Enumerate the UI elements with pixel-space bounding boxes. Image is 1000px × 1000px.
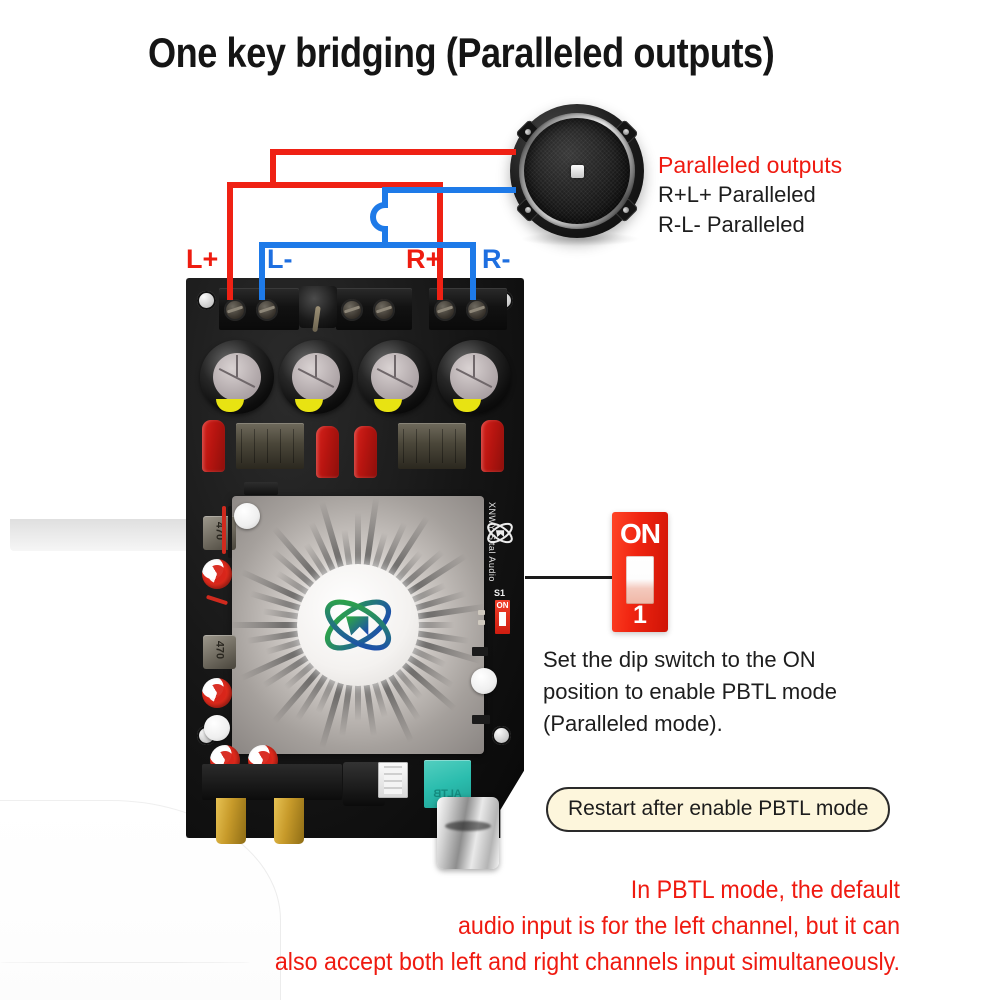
dip-instruction-line-2: position to enable PBTL mode (543, 676, 943, 708)
dip-instruction-line-3: (Paralleled mode). (543, 708, 943, 740)
dip-switch-callout[interactable]: ON 1 (612, 512, 668, 632)
dip-instruction-line-1: Set the dip switch to the ON (543, 644, 943, 676)
terminal-label-rplus: R+ (406, 246, 441, 273)
paralleled-line-2: R-L- Paralleled (658, 210, 988, 240)
terminal-label-rminus: R- (482, 246, 511, 273)
pbtl-mode-note: In PBTL mode, the default audio input is… (184, 872, 900, 980)
dip-callout-lever[interactable] (626, 556, 654, 604)
restart-badge: Restart after enable PBTL mode (546, 787, 890, 832)
pbtl-note-line-1: In PBTL mode, the default (184, 872, 900, 908)
pbtl-note-line-2: audio input is for the left channel, but… (184, 908, 900, 944)
terminal-label-lplus: L+ (186, 246, 218, 273)
dip-switch-leader-line (525, 576, 613, 579)
dip-callout-number: 1 (612, 601, 668, 630)
screenshot-root: One key bridging (Paralleled outputs) (0, 0, 1000, 1000)
terminal-label-lminus: L- (267, 246, 292, 273)
dip-callout-on-label: ON (612, 518, 668, 550)
paralleled-heading: Paralleled outputs (658, 150, 988, 180)
paralleled-outputs-callout: Paralleled outputs R+L+ Paralleled R-L- … (658, 150, 988, 240)
paralleled-line-1: R+L+ Paralleled (658, 180, 988, 210)
dip-switch-instruction: Set the dip switch to the ON position to… (543, 644, 943, 740)
pbtl-note-line-3: also accept both left and right channels… (184, 944, 900, 980)
